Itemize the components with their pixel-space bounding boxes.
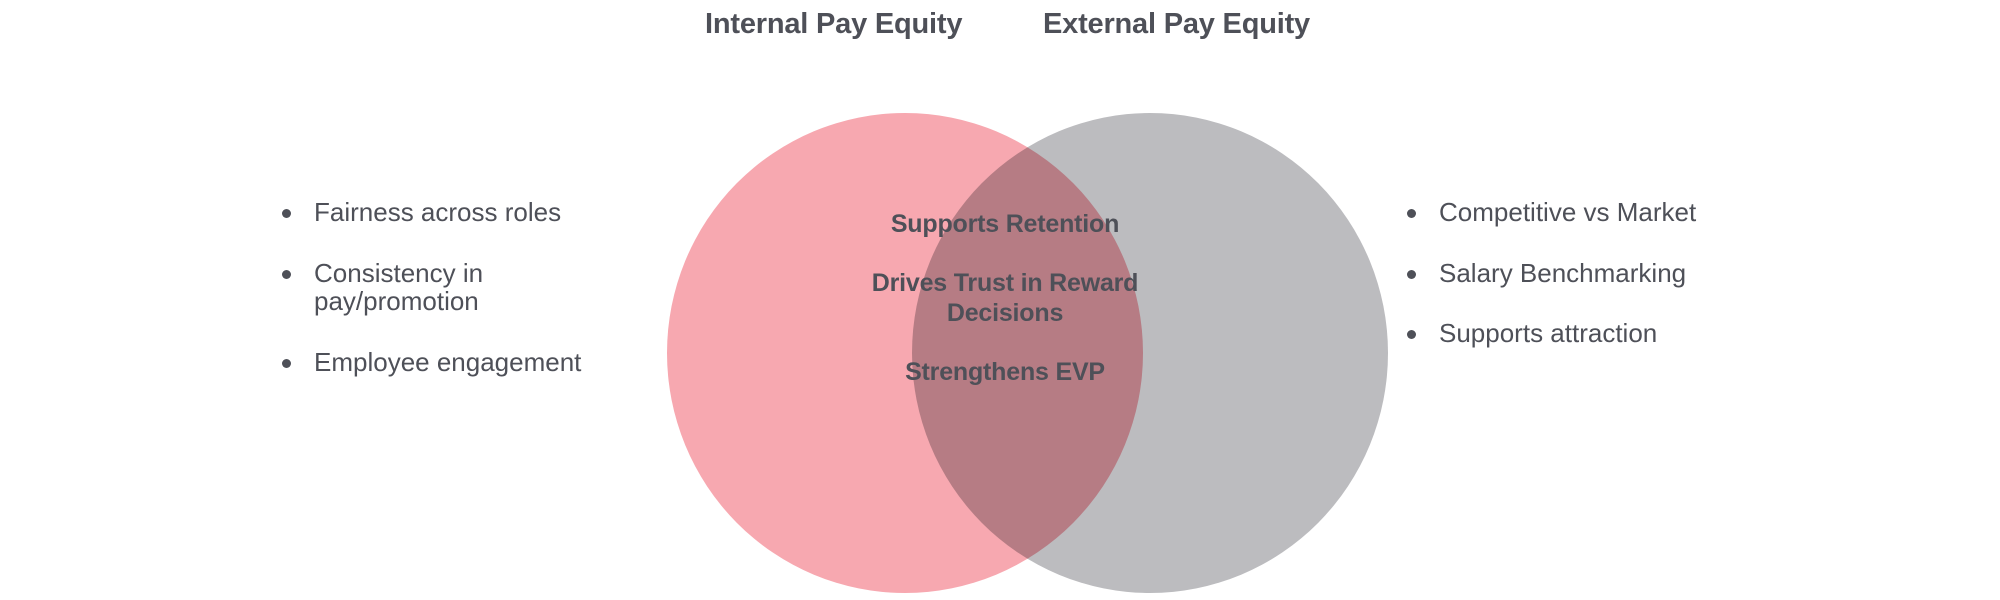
list-item: Supports attraction <box>1405 319 1735 348</box>
bullet-dot-icon <box>282 359 291 368</box>
bullet-dot-icon <box>1407 270 1416 279</box>
right-bullet-list: Competitive vs Market Salary Benchmarkin… <box>1405 198 1735 348</box>
list-item: Employee engagement <box>280 348 640 377</box>
intersection-item: Drives Trust in Reward Decisions <box>855 269 1155 328</box>
list-item-label: Supports attraction <box>1439 318 1657 348</box>
venn-title-left: Internal Pay Equity <box>705 8 962 41</box>
venn-title-right: External Pay Equity <box>1043 8 1310 41</box>
venn-intersection-text: Supports Retention Drives Trust in Rewar… <box>855 210 1155 387</box>
intersection-item: Strengthens EVP <box>855 358 1155 387</box>
list-item: Fairness across roles <box>280 198 640 227</box>
list-item-label: Competitive vs Market <box>1439 197 1696 227</box>
list-item: Salary Benchmarking <box>1405 259 1735 288</box>
venn-diagram: Internal Pay Equity External Pay Equity … <box>0 0 2000 600</box>
list-item-label: Fairness across roles <box>314 197 561 227</box>
list-item-label: Employee engagement <box>314 347 581 377</box>
list-item-label: Consistency in pay/promotion <box>314 258 483 317</box>
bullet-dot-icon <box>1407 209 1416 218</box>
left-bullet-list: Fairness across roles Consistency in pay… <box>280 198 640 376</box>
list-item: Consistency in pay/promotion <box>280 259 640 316</box>
bullet-dot-icon <box>1407 330 1416 339</box>
list-item-label: Salary Benchmarking <box>1439 258 1686 288</box>
bullet-dot-icon <box>282 270 291 279</box>
bullet-dot-icon <box>282 209 291 218</box>
intersection-item: Supports Retention <box>855 210 1155 239</box>
list-item: Competitive vs Market <box>1405 198 1735 227</box>
